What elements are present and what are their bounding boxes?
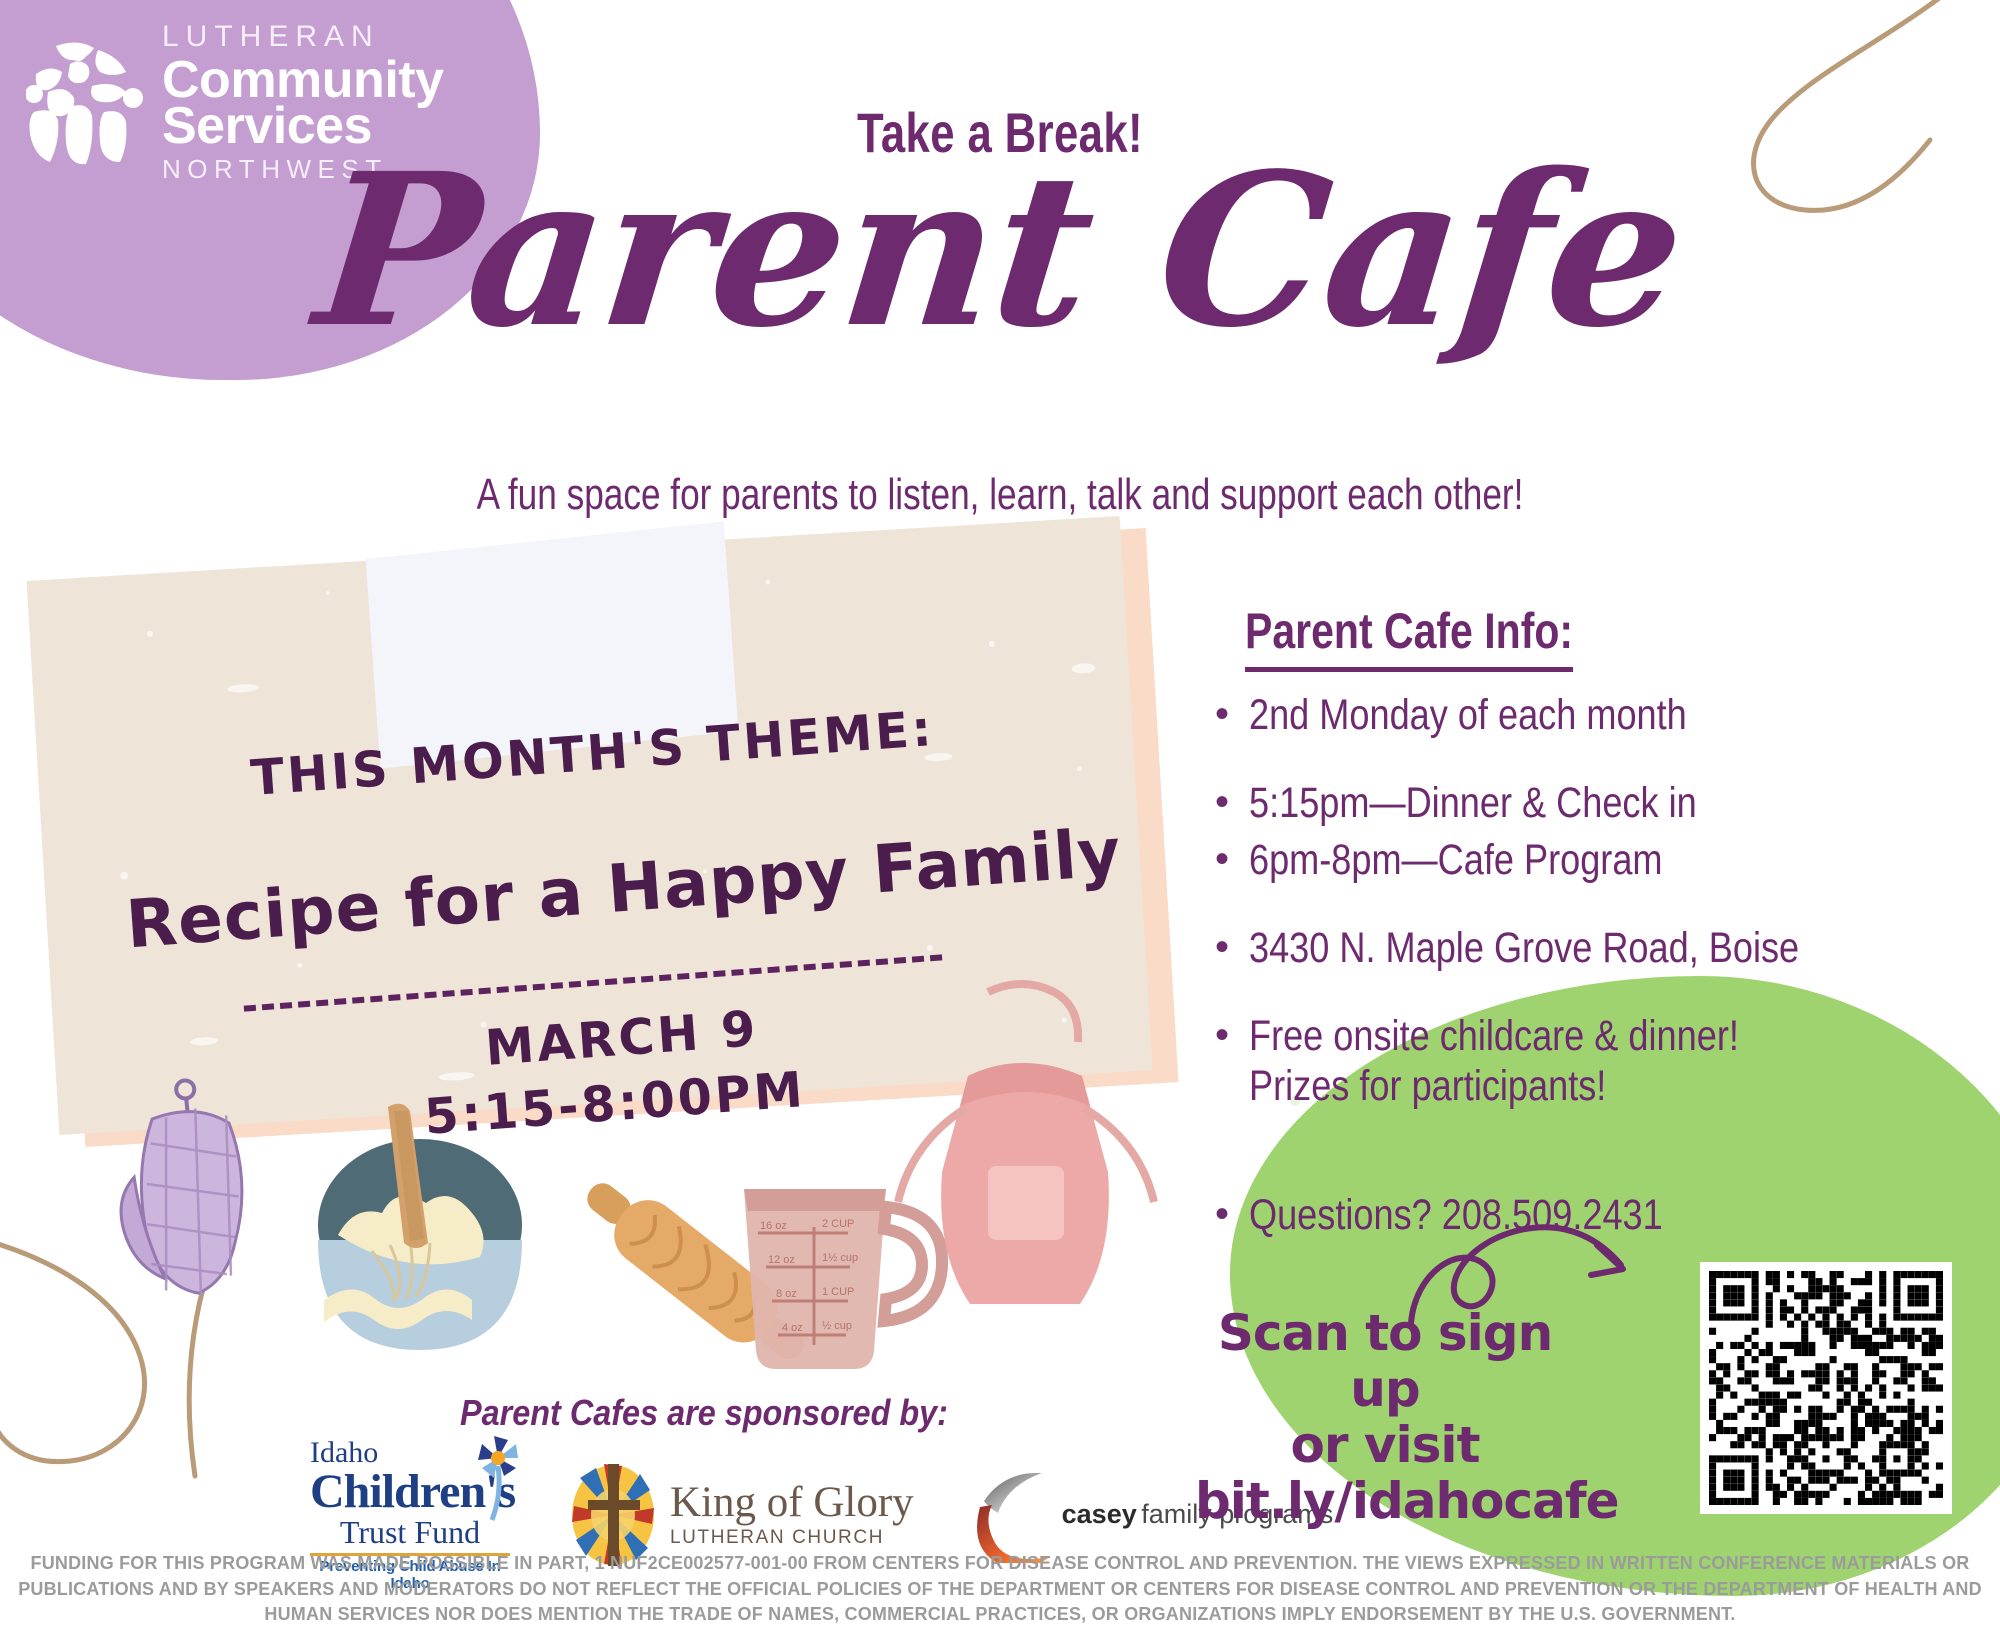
bullet-icon: • — [1215, 1190, 1249, 1238]
bullet-icon: • — [1215, 1011, 1249, 1059]
svg-text:12 oz: 12 oz — [768, 1254, 795, 1266]
flyer-canvas: LUTHERAN Community Services NORTHWEST Ta… — [0, 0, 2000, 1636]
scan-instructions: Scan to sign up or visit bit.ly/idahocaf… — [1195, 1305, 1575, 1529]
casey-line-1: casey — [1062, 1499, 1137, 1529]
list-item: • 3430 N. Maple Grove Road, Boise — [1215, 923, 2000, 973]
info-item-text: 5:15pm—Dinner & Check in — [1249, 778, 1892, 828]
casey-swoosh-icon — [974, 1467, 1052, 1563]
sponsor-heading: Parent Cafes are sponsored by: — [460, 1392, 948, 1434]
list-item: • 2nd Monday of each month — [1215, 690, 2000, 740]
info-item-text: 6pm-8pm—Cafe Program — [1249, 835, 1892, 885]
list-item: • 6pm-8pm—Cafe Program — [1215, 835, 2000, 885]
kog-line-2: LUTHERAN CHURCH — [670, 1527, 914, 1549]
list-item: • 5:15pm—Dinner & Check in — [1215, 778, 2000, 828]
scan-line-1: Scan to sign up — [1195, 1305, 1575, 1417]
svg-text:1 CUP: 1 CUP — [822, 1286, 854, 1298]
bullet-icon: • — [1215, 690, 1249, 738]
svg-text:2 CUP: 2 CUP — [822, 1218, 854, 1230]
list-item: • Free onsite childcare & dinner! Prizes… — [1215, 1011, 2000, 1112]
bullet-icon: • — [1215, 923, 1249, 971]
subtitle-text: A fun space for parents to listen, learn… — [200, 470, 1800, 520]
svg-text:4 oz: 4 oz — [782, 1322, 803, 1334]
svg-text:1½ cup: 1½ cup — [822, 1252, 858, 1264]
kog-line-1: King of Glory — [670, 1481, 914, 1524]
qr-code[interactable] — [1700, 1262, 1952, 1514]
info-item-text: Free onsite childcare & dinner! Prizes f… — [1249, 1011, 1892, 1112]
svg-text:8 oz: 8 oz — [776, 1288, 797, 1300]
scan-line-2: or visit — [1195, 1417, 1575, 1473]
logo-line-lutheran: LUTHERAN — [162, 22, 444, 52]
mixing-bowl-whisk-icon — [272, 1095, 562, 1395]
svg-text:½ cup: ½ cup — [822, 1320, 852, 1332]
apron-icon — [860, 980, 1190, 1320]
info-item-text: 2nd Monday of each month — [1249, 690, 1892, 740]
info-heading: Parent Cafe Info: — [1245, 602, 1573, 672]
funding-disclaimer: FUNDING FOR THIS PROGRAM WAS MADE POSSIB… — [0, 1551, 2000, 1628]
page-title: Parent Cafe — [0, 130, 2000, 372]
scan-line-3: bit.ly/idahocafe — [1195, 1473, 1575, 1529]
bullet-icon: • — [1215, 778, 1249, 826]
oven-mitt-icon — [100, 1075, 290, 1310]
pinwheel-flower-icon — [468, 1432, 528, 1522]
info-item-text: 3430 N. Maple Grove Road, Boise — [1249, 923, 1892, 973]
info-list: • 2nd Monday of each month • 5:15pm—Dinn… — [1215, 690, 2000, 1240]
svg-text:16 oz: 16 oz — [760, 1220, 787, 1232]
bullet-icon: • — [1215, 835, 1249, 883]
